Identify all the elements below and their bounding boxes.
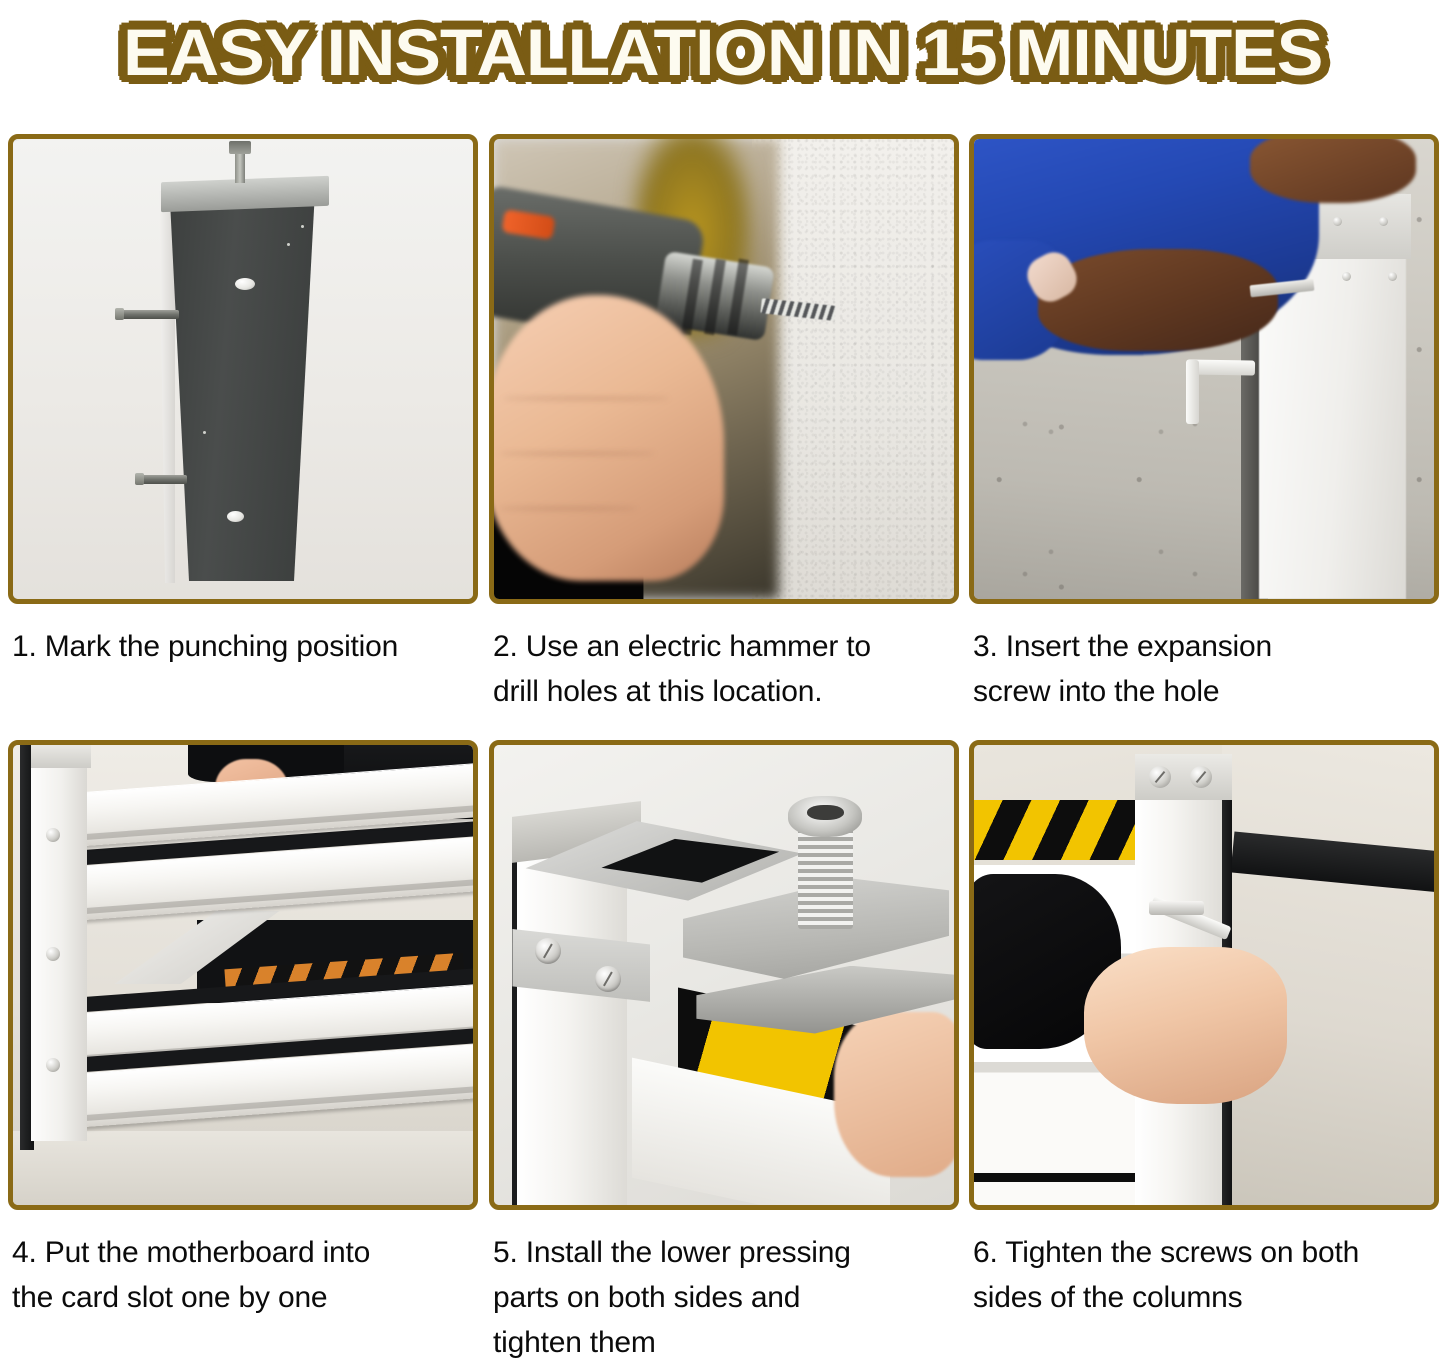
caption-line: 6. Tighten the screws on both [973,1230,1441,1275]
caption-line: screw into the hole [973,669,1441,714]
finger-crease [503,397,669,400]
installation-guide-page: EASY INSTALLATION IN 15 MINUTES [0,0,1445,1352]
hazard-stripe-panel [974,800,1140,860]
bracket-screw [595,966,621,992]
scene-expansion-screw [974,139,1434,599]
caption-line: drill holes at this location. [493,669,961,714]
finger-crease [499,452,655,455]
step-caption-5: 5. Install the lower pressing parts on b… [489,1230,961,1365]
step-card-1: 1. Mark the punching position [8,134,478,669]
pin-cap-lower [135,473,144,485]
caption-line: 1. Mark the punching position [12,624,480,669]
step-photo-1 [8,134,478,604]
steps-grid: 1. Mark the punching position [0,0,1445,1352]
allen-key-short-arm [1186,360,1200,424]
caption-line: 2. Use an electric hammer to [493,624,961,669]
pin-cap-upper [115,308,124,320]
column-screw [46,1058,60,1072]
column-screw [1190,766,1212,788]
scene-drilling-wall [494,139,954,599]
step-card-5: 5. Install the lower pressing parts on b… [489,740,959,1365]
column-post-body [165,191,315,581]
column-screw [46,828,60,842]
plate-screw [1379,217,1388,226]
worker-upper-hand [1250,139,1416,203]
step-card-2: 2. Use an electric hammer to drill holes… [489,134,959,714]
caption-line: the card slot one by one [12,1275,480,1320]
step-caption-3: 3. Insert the expansion screw into the h… [969,624,1441,714]
step-caption-4: 4. Put the motherboard into the card slo… [8,1230,480,1320]
column-top-plate [31,745,91,768]
caption-line: sides of the columns [973,1275,1441,1320]
step-caption-2: 2. Use an electric hammer to drill holes… [489,624,961,714]
post-speck [287,243,290,246]
hand-turning-key [1084,947,1286,1103]
drill-hole-lower [227,511,244,522]
caption-line: parts on both sides and [493,1275,961,1320]
scene-tighten-screws [974,745,1434,1205]
board-dark-line [974,1173,1140,1182]
hex-key-head [1149,901,1204,915]
caption-line: 4. Put the motherboard into [12,1230,480,1275]
step-card-4: 4. Put the motherboard into the card slo… [8,740,478,1320]
plate-screw [1333,217,1342,226]
post-speck [301,225,304,228]
mounting-pin-upper [117,310,179,319]
caption-line: 3. Insert the expansion [973,624,1441,669]
hand-supporting-board [834,1012,954,1178]
hex-bolt-socket [807,805,844,821]
post-bolt-head [229,141,251,154]
scene-insert-boards [13,745,473,1205]
caption-line: tighten them [493,1320,961,1365]
step-photo-5 [489,740,959,1210]
scene-marking-position [13,139,473,599]
mounting-pin-lower [137,475,187,484]
step-card-3: 3. Insert the expansion screw into the h… [969,134,1439,714]
step-caption-1: 1. Mark the punching position [8,624,480,669]
caption-line: 5. Install the lower pressing [493,1230,961,1275]
wall-texture [752,139,954,599]
scene-pressing-bracket [494,745,954,1205]
drill-hole-upper [235,278,255,290]
floor-surface [13,1131,473,1205]
step-photo-2 [489,134,959,604]
step-photo-6 [969,740,1439,1210]
step-card-6: 6. Tighten the screws on both sides of t… [969,740,1439,1320]
column-card-slot [31,745,86,1141]
column-screw [1149,766,1171,788]
step-photo-4 [8,740,478,1210]
step-photo-3 [969,134,1439,604]
step-caption-6: 6. Tighten the screws on both sides of t… [969,1230,1441,1320]
post-speck [203,431,206,434]
worker-arm [1038,249,1277,350]
finger-crease [499,507,637,510]
wall-surface [752,139,954,599]
